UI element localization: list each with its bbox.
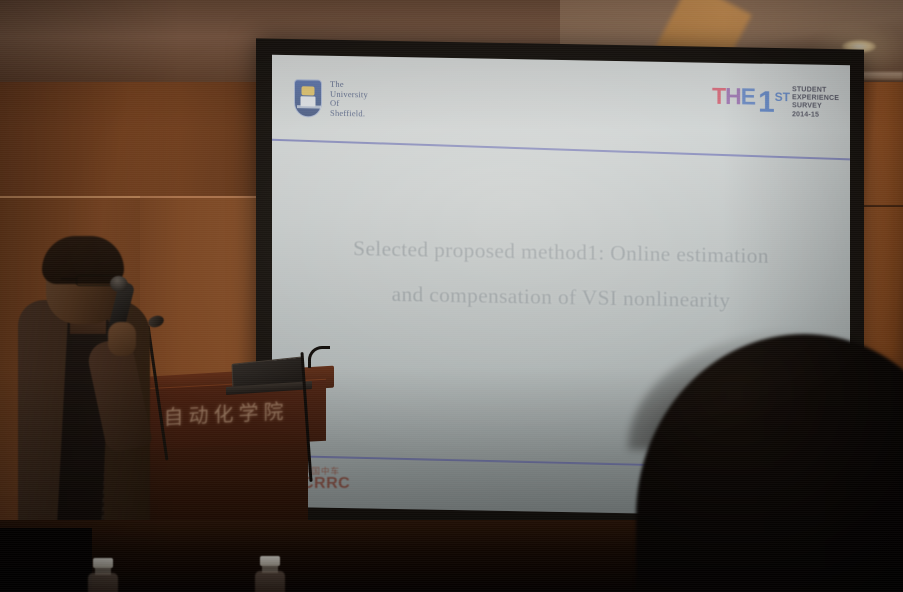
crest-band [297,105,321,108]
the-letter-t: T [712,83,725,109]
bottle-body [255,571,285,592]
water-bottle-left [86,558,120,592]
slide-title: Selected proposed method1: Online estima… [308,225,814,324]
the-student-experience-survey-logo: THE 1ST STUDENT EXPERIENCE SURVEY 2014-1… [712,81,832,131]
the-letter-e: E [741,83,755,109]
bottle-body [88,573,118,592]
university-of-sheffield-logo: The University Of Sheffield. [294,74,444,125]
slide-title-line-2: and compensation of VSI nonlinearity [308,270,814,324]
crrc-english-text: CRRC [302,476,372,492]
presentation-photo-scene: The University Of Sheffield. THE 1ST STU… [0,0,903,592]
award-subtitle: STUDENT EXPERIENCE SURVEY 2014-15 [792,86,839,120]
award-line-3: SURVEY 2014-15 [792,103,839,120]
water-bottle-right [253,556,287,592]
presenter-hand [108,322,136,356]
foreground-shadow [0,528,92,592]
rank-number: 1ST [758,82,790,119]
rank-suffix: ST [775,90,790,104]
sheffield-crest-icon [294,79,322,118]
sheffield-line-4: Sheffield. [330,108,368,118]
cable-loop [308,346,330,368]
crrc-logo: 中国中车 CRRC [302,466,372,506]
the-wordmark: THE [712,84,755,109]
slide-header-divider [272,139,850,161]
slide-title-line-1: Selected proposed method1: Online estima… [308,225,814,279]
sheffield-wordmark: The University Of Sheffield. [330,80,368,119]
rank-digit: 1 [758,86,775,119]
the-letter-h: H [725,83,741,109]
